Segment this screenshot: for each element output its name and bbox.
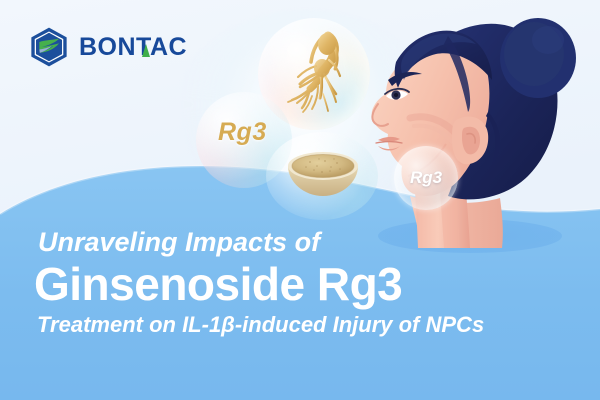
brand-wordmark: BONTAC	[79, 35, 187, 60]
headline-block: Unraveling Impacts of Ginsenoside Rg3 Tr…	[34, 228, 484, 337]
rg3-cheek-bubble: Rg3	[394, 146, 458, 210]
ginseng-powder-bowl-icon	[284, 148, 362, 200]
ginseng-root-icon	[276, 26, 356, 118]
bontac-hexagon-leaf-logo	[28, 26, 70, 68]
brand-logo: BONTAC	[28, 26, 187, 68]
poster-canvas: BONTAC	[0, 0, 600, 400]
headline-eyebrow: Unraveling Impacts of	[38, 228, 484, 256]
headline-subtitle: Treatment on IL-1β-induced Injury of NPC…	[37, 313, 484, 337]
rg3-floating-label: Rg3	[218, 118, 267, 147]
brand-wordmark-text: BONTAC	[79, 33, 187, 61]
woman-head-profile-icon	[352, 0, 600, 250]
rg3-cheek-label: Rg3	[410, 168, 442, 188]
leaf-accent-icon	[142, 44, 150, 57]
page-title: Ginsenoside Rg3	[34, 260, 484, 309]
